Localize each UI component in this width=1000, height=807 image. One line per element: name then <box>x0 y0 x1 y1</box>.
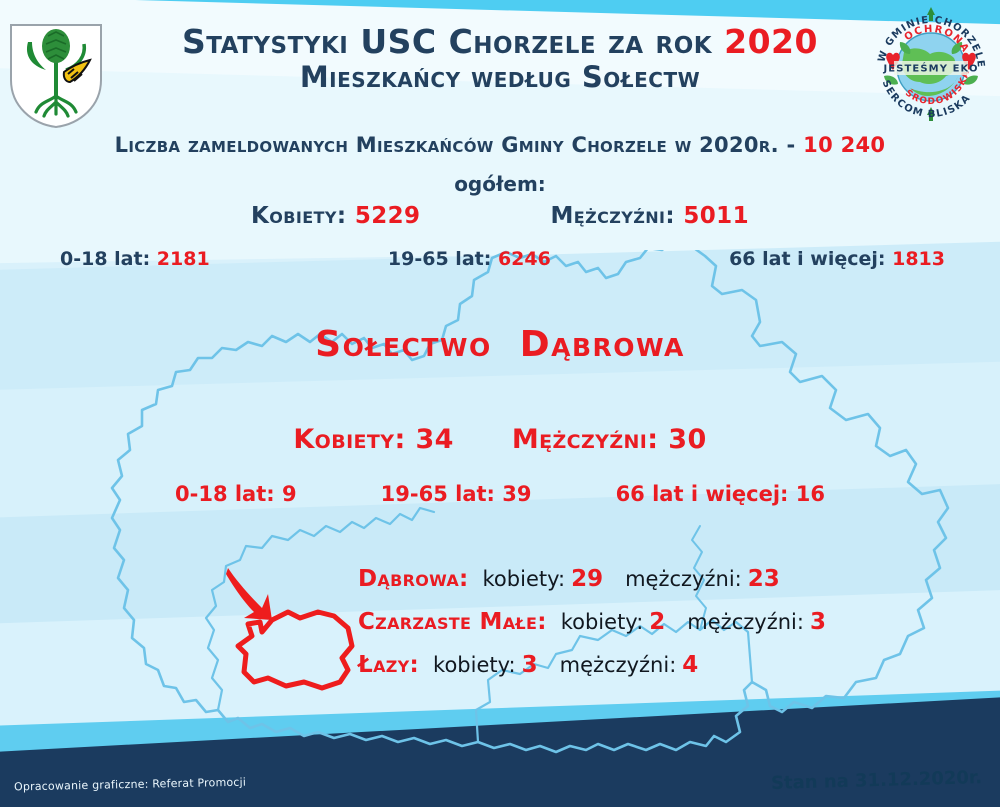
gmina-men: Mężczyźni: 5011 <box>550 203 749 229</box>
village-women-value: 29 <box>571 566 603 592</box>
svg-text:JESTEŚMY EKO: JESTEŚMY EKO <box>882 62 978 75</box>
gmina-gender-row: Kobiety: 5229 Mężczyźni: 5011 <box>0 203 1000 229</box>
gmina-total-value: 10 240 <box>803 133 885 157</box>
gmina-age-value-2: 1813 <box>892 248 945 270</box>
gmina-age-value-0: 2181 <box>157 248 210 270</box>
title-line-2: Mieszkańcy według Sołectw <box>0 61 1000 93</box>
gmina-men-value: 5011 <box>683 203 749 229</box>
village-name: Łazy: <box>358 652 419 678</box>
solectwo-title: SołectwoDąbrowa <box>0 324 1000 365</box>
solectwo-age-value-2: 16 <box>796 482 825 506</box>
village-name: Czarzaste Małe: <box>358 609 547 635</box>
village-men-value: 4 <box>682 652 698 678</box>
gmina-total-label: Liczba zameldowanych Mieszkańców Gminy C… <box>115 133 804 157</box>
gmina-age-group-1: 19-65 lat: 6246 <box>388 248 551 270</box>
solectwo-title-word-2: Dąbrowa <box>520 324 685 365</box>
solectwo-women-value: 34 <box>415 424 453 455</box>
solectwo-age-label-1: 19-65 lat: <box>381 482 503 506</box>
coat-of-arms-chorzele <box>8 22 104 130</box>
infographic-poster: W GMINIE CHORZELE SERCOM BLISKA OCHRONA … <box>0 0 1000 807</box>
ogolem-label: ogółem: <box>0 172 1000 196</box>
village-breakdown-list: Dąbrowa: kobiety: 29 mężczyźni: 23 Czarz… <box>358 566 826 678</box>
village-women-value: 2 <box>649 609 665 635</box>
gmina-men-label: Mężczyźni: <box>550 203 683 229</box>
gmina-women-label: Kobiety: <box>251 203 355 229</box>
red-arrow-pointer <box>222 562 282 628</box>
page-title: Statystyki USC Chorzele za rok 2020 Mies… <box>0 24 1000 93</box>
village-women-label: kobiety: <box>483 567 566 591</box>
solectwo-age-group-0: 0-18 lat: 9 <box>175 482 297 506</box>
solectwo-gender-row: Kobiety: 34 Mężczyźni: 30 <box>0 424 1000 455</box>
solectwo-age-group-2: 66 lat i więcej: 16 <box>616 482 825 506</box>
solectwo-men: Mężczyźni: 30 <box>512 424 707 455</box>
solectwo-women: Kobiety: 34 <box>293 424 454 455</box>
village-name: Dąbrowa: <box>358 566 469 592</box>
village-men-label: mężczyźni: <box>560 653 677 677</box>
solectwo-age-row: 0-18 lat: 9 19-65 lat: 39 66 lat i więce… <box>175 482 825 506</box>
village-women-label: kobiety: <box>433 653 516 677</box>
solectwo-age-group-1: 19-65 lat: 39 <box>381 482 532 506</box>
solectwo-age-label-2: 66 lat i więcej: <box>616 482 796 506</box>
solectwo-women-label: Kobiety: <box>293 424 415 455</box>
solectwo-title-word-1: Sołectwo <box>315 324 492 365</box>
gmina-age-row: 0-18 lat: 2181 19-65 lat: 6246 66 lat i … <box>60 248 945 270</box>
gmina-women-value: 5229 <box>355 203 421 229</box>
village-men-value: 3 <box>810 609 826 635</box>
gmina-age-label-1: 19-65 lat: <box>388 248 498 270</box>
village-row: Dąbrowa: kobiety: 29 mężczyźni: 23 <box>358 566 826 592</box>
gmina-women: Kobiety: 5229 <box>251 203 420 229</box>
village-row: Łazy: kobiety: 3 mężczyźni: 4 <box>358 652 826 678</box>
village-men-value: 23 <box>748 566 780 592</box>
village-men-label: mężczyźni: <box>625 567 742 591</box>
gmina-age-label-2: 66 lat i więcej: <box>729 248 892 270</box>
title-line-1: Statystyki USC Chorzele za rok 2020 <box>0 24 1000 60</box>
gmina-age-group-0: 0-18 lat: 2181 <box>60 248 210 270</box>
village-men-label: mężczyźni: <box>687 610 804 634</box>
solectwo-age-value-1: 39 <box>502 482 531 506</box>
eco-logo-chorzele: W GMINIE CHORZELE SERCOM BLISKA OCHRONA … <box>870 4 992 126</box>
title-main-text: Statystyki USC Chorzele za rok <box>182 22 724 61</box>
solectwo-men-value: 30 <box>668 424 706 455</box>
village-row: Czarzaste Małe: kobiety: 2 mężczyźni: 3 <box>358 609 826 635</box>
village-women-value: 3 <box>522 652 538 678</box>
solectwo-age-label-0: 0-18 lat: <box>175 482 282 506</box>
solectwo-age-value-0: 9 <box>282 482 297 506</box>
gmina-age-value-1: 6246 <box>498 248 551 270</box>
village-women-label: kobiety: <box>561 610 644 634</box>
gmina-total-line: Liczba zameldowanych Mieszkańców Gminy C… <box>0 133 1000 157</box>
solectwo-men-label: Mężczyźni: <box>512 424 668 455</box>
gmina-age-label-0: 0-18 lat: <box>60 248 157 270</box>
gmina-age-group-2: 66 lat i więcej: 1813 <box>729 248 945 270</box>
title-year: 2020 <box>724 22 818 61</box>
